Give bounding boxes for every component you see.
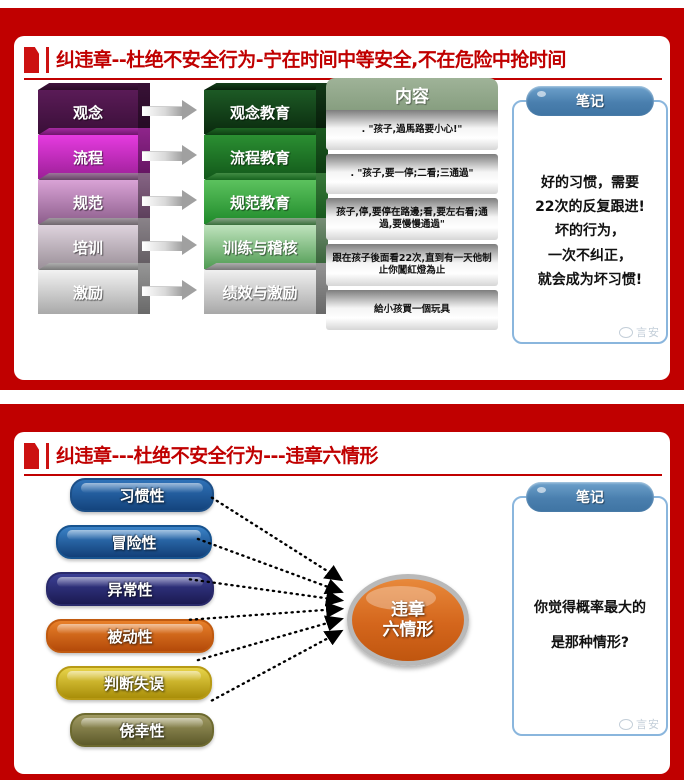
notes-line: 好的习惯，需要 [541,176,639,191]
stack-box-label: 激励 [73,282,103,303]
violation-pill-label: 异常性 [107,579,152,600]
violation-pill-label: 判断失误 [104,673,164,694]
notes-line: 就会成为坏习惯! [538,273,642,288]
edu-box-performance[interactable]: 绩效与激励 [204,270,316,314]
watermark-text: 言安 [636,716,660,732]
stack-box-standard[interactable]: 规范 [38,180,138,224]
slide-2: 纠违章---杜绝不安全行为---违章六情形 习惯性 冒险性 异常性 被动性 判断… [0,404,684,780]
notes-panel: 笔记 你觉得概率最大的 是那种情形? 言安 [512,496,668,736]
violation-pill-label: 冒险性 [111,532,156,553]
stack-box-process[interactable]: 流程 [38,135,138,179]
notes-tab-label: 笔记 [526,86,654,116]
content-column: 内容 . "孩子,過馬路要小心!" . "孩子,要一停;二看;三通過" 孩子,停… [326,78,498,330]
watermark: 言安 [619,324,660,340]
violation-pill-habitual[interactable]: 习惯性 [70,478,214,512]
edu-box-label: 观念教育 [230,102,290,123]
notes-line: 22次的反复跟进! [535,200,645,215]
violation-pill-risky[interactable]: 冒险性 [56,525,212,559]
slide-1: 纠违章--杜绝不安全行为-宁在时间中等安全,不在危险中抢时间 观念 流程 规范 … [0,8,684,390]
watermark-text: 言安 [636,324,660,340]
page-flag-icon [24,47,39,73]
notes-tab-label: 笔记 [526,482,654,512]
notes-body: 好的习惯，需要 22次的反复跟进! 坏的行为， 一次不纠正， 就会成为坏习惯! [520,128,660,336]
violation-pill-luck[interactable]: 侥幸性 [70,713,214,747]
slide-2-card: 纠违章---杜绝不安全行为---违章六情形 习惯性 冒险性 异常性 被动性 判断… [14,432,670,774]
violation-pill-misjudgment[interactable]: 判断失误 [56,666,212,700]
connector-line [212,632,339,700]
content-row[interactable]: . "孩子,要一停;二看;三通過" [326,154,498,194]
violation-pill-abnormal[interactable]: 异常性 [46,572,214,606]
stack-box-label: 观念 [73,102,103,123]
violation-pill-passive[interactable]: 被动性 [46,619,214,653]
stack-box-incentive[interactable]: 激励 [38,270,138,314]
green-stack: 观念教育 流程教育 规范教育 训练与稽核 绩效与激励 [204,90,316,315]
notes-line: 一次不纠正， [548,249,632,264]
center-node-line2: 六情形 [383,620,434,640]
edu-box-process[interactable]: 流程教育 [204,135,316,179]
purple-stack: 观念 流程 规范 培训 激励 [38,90,138,315]
right-arrow-icon [142,135,202,180]
slideshow-page: 纠违章--杜绝不安全行为-宁在时间中等安全,不在危险中抢时间 观念 流程 规范 … [0,0,684,780]
content-header: 内容 [326,78,498,110]
notes-line: 坏的行为， [555,224,625,239]
title-divider-bar [46,47,49,73]
content-row[interactable]: 跟在孩子後面看22次,直到有一天他制止你闖紅燈為止 [326,244,498,286]
notes-line: 你觉得概率最大的 [534,601,646,616]
stack-box-label: 流程 [73,147,103,168]
notes-line: 是那种情形? [551,636,629,651]
connector-line [212,498,339,579]
slide-1-card: 纠违章--杜绝不安全行为-宁在时间中等安全,不在危险中抢时间 观念 流程 规范 … [14,36,670,380]
edu-box-training-audit[interactable]: 训练与稽核 [204,225,316,269]
slide-2-body: 习惯性 冒险性 异常性 被动性 判断失误 侥幸性 [14,478,670,774]
right-arrow-icon [142,225,202,270]
violation-type-list: 习惯性 冒险性 异常性 被动性 判断失误 侥幸性 [42,478,222,760]
edu-box-label: 流程教育 [230,147,290,168]
notes-body: 你觉得概率最大的 是那种情形? [520,524,660,728]
stack-box-label: 规范 [73,192,103,213]
right-arrow-icon [142,90,202,135]
violation-pill-label: 侥幸性 [119,720,164,741]
notes-panel: 笔记 好的习惯，需要 22次的反复跟进! 坏的行为， 一次不纠正， 就会成为坏习… [512,100,668,344]
right-arrow-icon [142,270,202,315]
edu-box-label: 规范教育 [230,192,290,213]
edu-box-standard[interactable]: 规范教育 [204,180,316,224]
watermark: 言安 [619,716,660,732]
center-node-violation-six-types[interactable]: 违章 六情形 [347,574,469,666]
arrow-column [142,90,202,315]
stack-box-concept[interactable]: 观念 [38,90,138,134]
center-node-line1: 违章 [391,600,425,620]
slide-1-body: 观念 流程 规范 培训 激励 观念教育 流程教育 [14,82,670,380]
page-title: 纠违章--杜绝不安全行为-宁在时间中等安全,不在危险中抢时间 [56,51,566,70]
content-row[interactable]: . "孩子,過馬路要小心!" [326,110,498,150]
slide-2-title-row: 纠违章---杜绝不安全行为---违章六情形 [24,438,662,476]
content-row[interactable]: 孩子,停,要停在路邊;看,要左右看;通過,要慢慢通過" [326,198,498,240]
edu-box-label: 绩效与激励 [222,282,297,303]
wechat-bubble-icon [619,719,633,730]
page-title: 纠违章---杜绝不安全行为---违章六情形 [56,447,378,466]
edu-box-concept[interactable]: 观念教育 [204,90,316,134]
slide-1-title-row: 纠违章--杜绝不安全行为-宁在时间中等安全,不在危险中抢时间 [24,42,662,80]
title-divider-bar [46,443,49,469]
wechat-bubble-icon [619,327,633,338]
page-flag-icon [24,443,39,469]
stack-box-label: 培训 [73,237,103,258]
violation-pill-label: 习惯性 [119,485,164,506]
stack-box-training[interactable]: 培训 [38,225,138,269]
violation-pill-label: 被动性 [107,626,152,647]
edu-box-label: 训练与稽核 [222,237,297,258]
right-arrow-icon [142,180,202,225]
content-row[interactable]: 給小孩買一個玩具 [326,290,498,330]
